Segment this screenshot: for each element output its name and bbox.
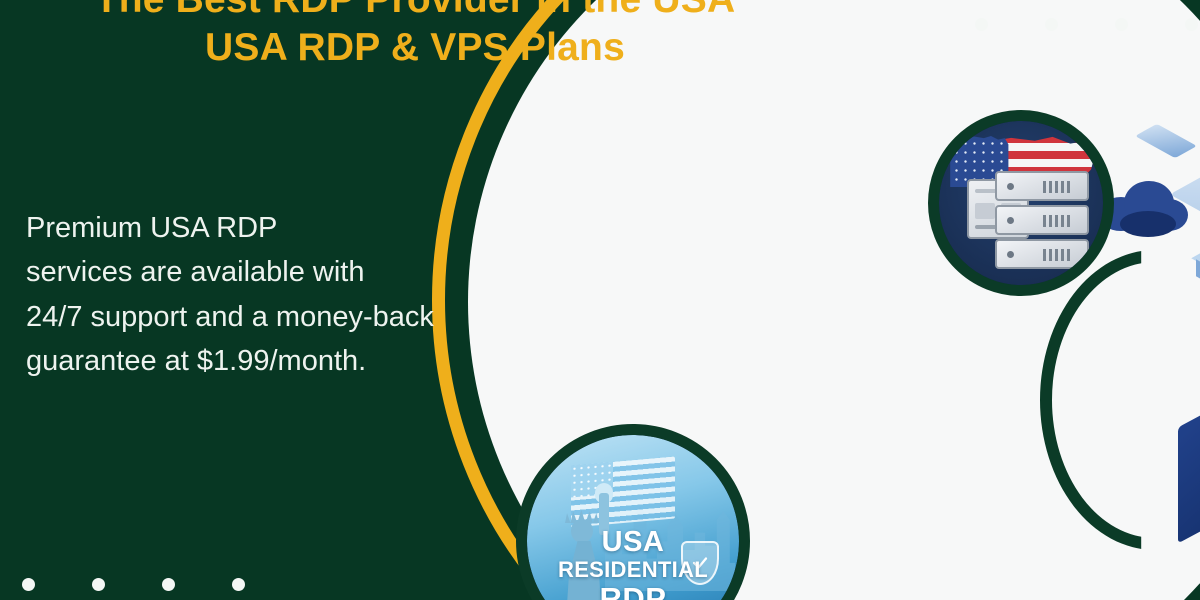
screen-panel-icon <box>1178 383 1200 544</box>
decor-dots-top-right <box>975 18 1198 31</box>
server-rack-icon <box>995 239 1089 269</box>
body-line-1: Premium USA RDP <box>26 206 566 250</box>
decor-dots-bottom-left <box>22 578 245 591</box>
decor-dot <box>1045 18 1058 31</box>
headline-line-2: USA RDP & VPS Plans <box>0 24 830 72</box>
headline-block: The Best RDP Provider in the USA USA RDP… <box>0 0 830 71</box>
decor-dot <box>22 578 35 591</box>
usa-server-badge <box>928 110 1114 296</box>
laptop-icon <box>1180 119 1200 269</box>
decor-dot <box>162 578 175 591</box>
body-line-3: 24/7 support and a money-back <box>26 295 566 339</box>
server-rack-icon <box>995 205 1089 235</box>
server-rack-icon <box>995 171 1089 201</box>
badge-line-1: USA <box>527 527 739 558</box>
badge-text: USA RESIDENTIAL RDP <box>527 527 739 600</box>
headline-line-1: The Best RDP Provider in the USA <box>0 0 830 24</box>
cube-icon <box>1196 255 1200 281</box>
badge-line-2: RESIDENTIAL <box>527 558 739 582</box>
decor-dot <box>1115 18 1128 31</box>
usa-residential-rdp-badge: USA RESIDENTIAL RDP <box>516 424 750 600</box>
decor-dot <box>1185 18 1198 31</box>
badge-line-3: RDP <box>527 582 739 600</box>
promo-banner: Windows Server <box>0 0 1200 600</box>
body-line-2: services are available with <box>26 250 566 294</box>
decor-dot <box>92 578 105 591</box>
decor-dot <box>232 578 245 591</box>
decor-dot <box>975 18 988 31</box>
body-copy: Premium USA RDP services are available w… <box>26 206 566 383</box>
body-line-4: guarantee at $1.99/month. <box>26 339 566 383</box>
